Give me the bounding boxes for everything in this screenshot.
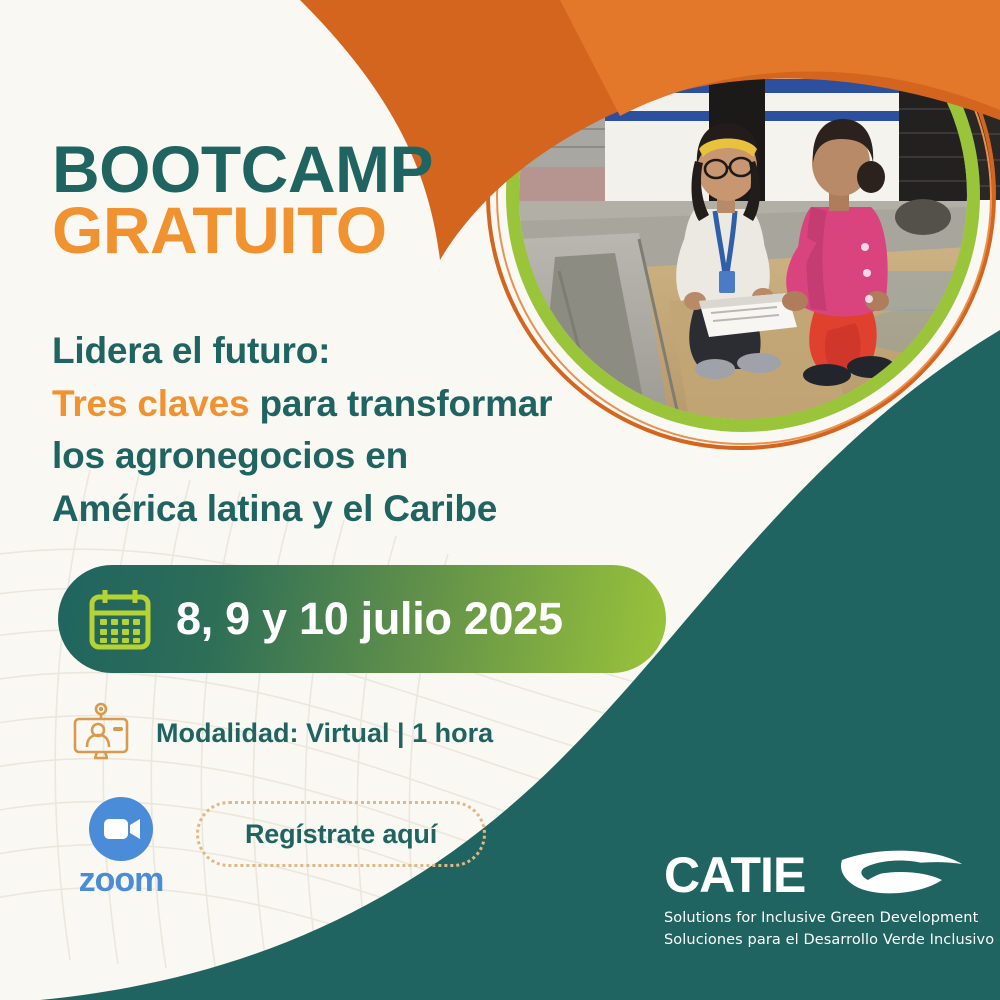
modality-text: Modalidad: Virtual | 1 hora — [156, 718, 493, 749]
subtitle-line-1: Lidera el futuro: — [52, 325, 552, 378]
catie-wordmark-and-leaf-swoosh-icon: CATIE — [664, 848, 964, 906]
zoom-logo: zoom — [66, 797, 176, 897]
zoom-wordmark: zoom — [66, 863, 176, 897]
calendar-icon — [86, 585, 154, 653]
subtitle-line-3: los agronegocios en — [52, 430, 552, 483]
register-button[interactable]: Regístrate aquí — [196, 801, 486, 867]
svg-text:CATIE: CATIE — [664, 848, 805, 903]
subtitle-highlight: Tres claves — [52, 383, 249, 424]
register-button-label: Regístrate aquí — [245, 819, 437, 850]
subtitle-line-4: América latina y el Caribe — [52, 483, 552, 536]
headline-line-2: GRATUITO — [52, 200, 433, 261]
date-pill: 8, 9 y 10 julio 2025 — [58, 565, 666, 673]
subtitle-line-2-rest: para transformar — [249, 383, 552, 424]
catie-logo: CATIE Solutions for Inclusive Green Deve… — [664, 848, 964, 950]
headline-line-1: BOOTCAMP — [52, 139, 433, 200]
catie-tagline-es: Soluciones para el Desarrollo Verde Incl… — [664, 931, 964, 950]
page-title: BOOTCAMP GRATUITO — [52, 139, 433, 262]
subtitle-block: Lidera el futuro: Tres claves para trans… — [52, 325, 552, 535]
promo-poster: BOOTCAMP GRATUITO Lidera el futuro: Tres… — [0, 0, 1000, 1000]
zoom-camera-icon — [89, 797, 153, 861]
modality-row: Modalidad: Virtual | 1 hora — [70, 702, 493, 764]
subtitle-line-2: Tres claves para transformar — [52, 378, 552, 431]
webcam-monitor-icon — [70, 702, 132, 764]
catie-tagline-en: Solutions for Inclusive Green Developmen… — [664, 909, 964, 928]
date-text: 8, 9 y 10 julio 2025 — [176, 593, 563, 645]
